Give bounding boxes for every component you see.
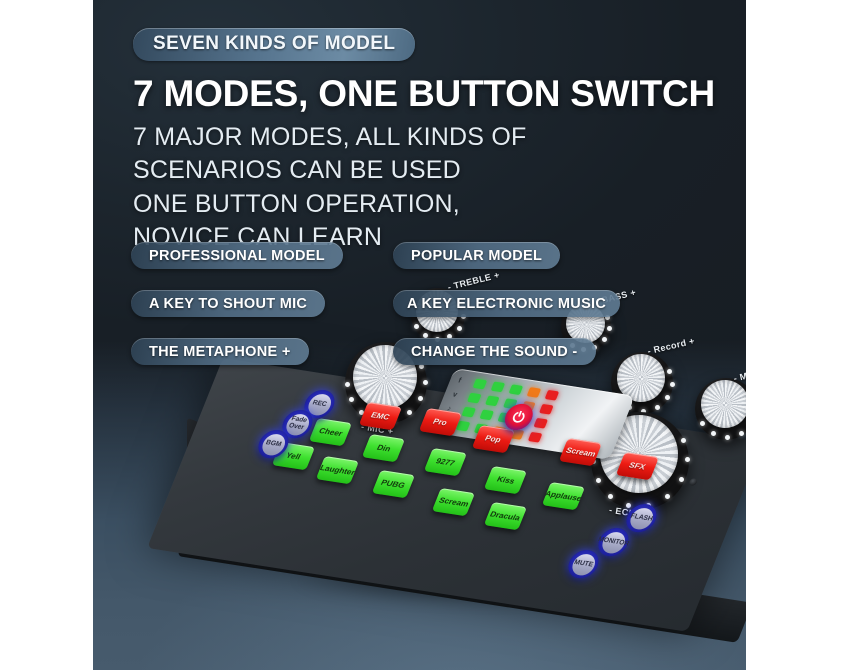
feature-pill-metaphone[interactable]: THE METAPHONE + <box>131 338 309 365</box>
knob-monitor-cap <box>701 380 746 428</box>
feature-pill-electronic-music[interactable]: A KEY ELECTRONIC MUSIC <box>393 290 620 317</box>
feature-pill-popular-model[interactable]: POPULAR MODEL <box>393 242 560 269</box>
section-badge: SEVEN KINDS OF MODEL <box>133 28 415 61</box>
led-row-key: v <box>451 391 463 399</box>
led-indicator <box>461 407 476 418</box>
subtitle-line-1: 7 MAJOR MODES, ALL KINDS OF <box>133 121 746 154</box>
power-icon: ⏻ <box>510 409 527 425</box>
feature-pill-change-sound[interactable]: CHANGE THE SOUND - <box>393 338 596 365</box>
led-indicator <box>479 410 494 421</box>
feature-pill-shout-mic[interactable]: A KEY TO SHOUT MIC <box>131 290 325 317</box>
headline-block: SEVEN KINDS OF MODEL 7 MODES, ONE BUTTON… <box>133 28 746 254</box>
marketing-banner: SEVEN KINDS OF MODEL 7 MODES, ONE BUTTON… <box>0 0 850 670</box>
led-indicator <box>485 396 500 407</box>
feature-pill-professional-model[interactable]: PROFESSIONAL MODEL <box>131 242 343 269</box>
subtitle-line-3: ONE BUTTON OPERATION, <box>133 188 746 221</box>
led-indicator <box>467 393 482 404</box>
led-indicator <box>527 387 542 398</box>
feature-pill-row: A KEY TO SHOUT MIC A KEY ELECTRONIC MUSI… <box>131 290 746 326</box>
led-indicator <box>533 418 548 429</box>
feature-pill-grid: PROFESSIONAL MODEL POPULAR MODEL A KEY T… <box>131 242 746 386</box>
page-title: 7 MODES, ONE BUTTON SWITCH <box>133 73 746 115</box>
subtitle-line-2: SCENARIOS CAN BE USED <box>133 154 746 187</box>
led-indicator <box>528 432 543 443</box>
dark-background-panel: SEVEN KINDS OF MODEL 7 MODES, ONE BUTTON… <box>93 0 746 670</box>
subtitle-block: 7 MAJOR MODES, ALL KINDS OF SCENARIOS CA… <box>133 121 746 254</box>
led-indicator <box>545 390 560 401</box>
led-indicator <box>539 404 554 415</box>
feature-pill-row: THE METAPHONE + CHANGE THE SOUND - <box>131 338 746 374</box>
feature-pill-row: PROFESSIONAL MODEL POPULAR MODEL <box>131 242 746 278</box>
